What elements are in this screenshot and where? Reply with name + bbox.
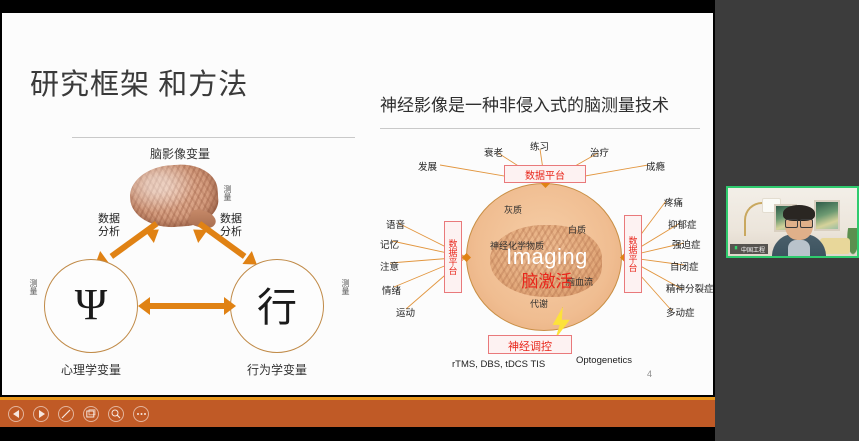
next-arrow-icon: [38, 410, 45, 418]
wall-art-right: [814, 200, 840, 231]
presentation-toolbar: [0, 397, 715, 427]
label-autism: 自闭症: [670, 259, 699, 273]
arrowhead-icon: [138, 297, 150, 315]
label-development: 发展: [418, 159, 437, 173]
slide-subtitle: 神经影像是一种非侵入式的脑测量技术: [380, 91, 669, 116]
data-platform-label-top: 数据平台: [504, 167, 586, 182]
arrow-psych-to-behavior: [148, 303, 226, 309]
psychology-variable-label: 心理学变量: [44, 361, 138, 378]
label-memory: 记忆: [380, 237, 399, 251]
previous-slide-button[interactable]: [8, 406, 24, 422]
glasses-icon: [785, 219, 813, 226]
data-analysis-label-right: 数据 分析: [220, 213, 242, 239]
label-treatment: 治疗: [590, 145, 609, 159]
microphone-icon: [733, 246, 739, 253]
meeting-screen-share-window: 研究框架 和方法 神经影像是一种非侵入式的脑测量技术 脑影像变量 测量 数据 分…: [0, 0, 859, 441]
slide-thumbnails-button[interactable]: [83, 406, 99, 422]
participant-name-badge: 中国工程: [730, 244, 768, 254]
data-analysis-label-left: 数据 分析: [98, 213, 120, 239]
research-framework-diagram: 脑影像变量 测量 数据 分析 数据 分析 Ψ 心理学变量 行 行为学变量: [22, 139, 367, 384]
page-title: 研究框架 和方法: [30, 61, 248, 103]
slides-icon: [86, 409, 96, 419]
next-slide-button[interactable]: [33, 406, 49, 422]
pen-icon: [61, 409, 71, 419]
magnifier-icon: [111, 409, 121, 419]
optogenetics-label: Optogenetics: [576, 355, 632, 366]
data-platform-label-right: 数据平台: [624, 215, 642, 293]
ellipsis-icon: [136, 412, 147, 416]
title-divider-left: [72, 137, 355, 138]
label-schizophrenia: 精神分裂症: [666, 281, 713, 295]
psi-glyph-icon: Ψ: [44, 257, 138, 351]
label-adhd: 多动症: [666, 305, 695, 319]
prev-arrow-icon: [13, 410, 20, 418]
participant-video-tile[interactable]: 中国工程: [726, 186, 859, 258]
label-movement: 运动: [396, 305, 415, 319]
neuroimaging-overview-diagram: 灰质 白质 神经化学物质 代谢 脑血流 Imaging 脑激活 发展 衰老 练习…: [380, 139, 710, 384]
title-divider-right: [380, 128, 700, 129]
presentation-slide[interactable]: 研究框架 和方法 神经影像是一种非侵入式的脑测量技术 脑影像变量 测量 数据 分…: [2, 13, 713, 395]
label-attention: 注意: [380, 259, 399, 273]
participants-video-sidebar[interactable]: 中国工程: [715, 0, 859, 441]
brain-imaging-variable-label: 脑影像变量: [150, 145, 210, 162]
data-platform-label-left: 数据平台: [444, 221, 462, 293]
gray-matter-label: 灰质: [504, 203, 522, 216]
measure-label-left: 测量: [28, 279, 39, 295]
label-depression: 抑郁症: [668, 217, 697, 231]
brain-activation-label: 脑激活: [484, 267, 610, 292]
measure-label-right: 测量: [340, 279, 351, 295]
participant-shirt: [788, 240, 810, 258]
metabolism-label: 代谢: [530, 297, 548, 310]
participant-name: 中国工程: [741, 245, 765, 254]
label-emotion: 情绪: [382, 283, 401, 297]
white-matter-label: 白质: [568, 223, 586, 236]
xing-glyph-icon: 行: [230, 257, 324, 351]
label-ocd: 强迫症: [672, 237, 701, 251]
shared-content-region: 研究框架 和方法 神经影像是一种非侵入式的脑测量技术 脑影像变量 测量 数据 分…: [0, 0, 715, 441]
annotate-button[interactable]: [58, 406, 74, 422]
more-options-button[interactable]: [133, 406, 149, 422]
label-practice: 练习: [530, 139, 549, 153]
neuromodulation-label: 神经调控: [488, 338, 572, 354]
label-addiction: 成瘾: [646, 159, 665, 173]
label-language: 语音: [386, 217, 405, 231]
stimulation-methods-label: rTMS, DBS, tDCS TIS: [452, 359, 545, 370]
slide-page-number: 4: [647, 369, 652, 379]
zoom-button[interactable]: [108, 406, 124, 422]
behavior-variable-label: 行为学变量: [230, 361, 324, 378]
arrowhead-icon: [224, 297, 236, 315]
label-aging: 衰老: [484, 145, 503, 159]
measure-label-top: 测量: [222, 185, 233, 201]
label-pain: 疼痛: [664, 195, 683, 209]
